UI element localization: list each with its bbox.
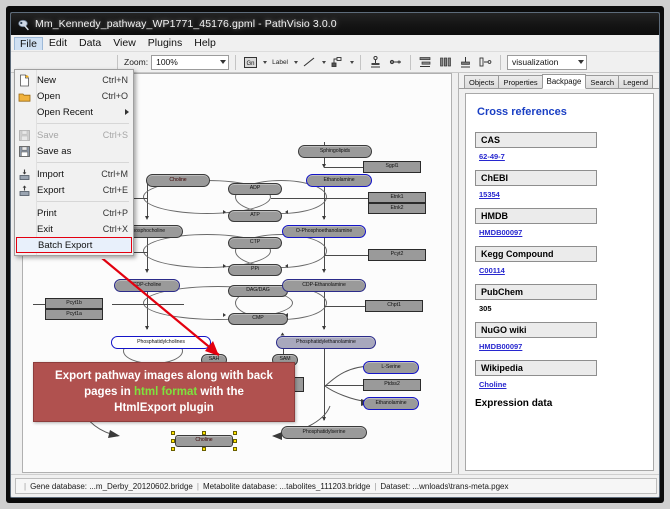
node-label: Sgpl1 [385,164,398,169]
pathway-node-sphingolipids[interactable]: Sphingolipids [298,145,372,158]
window-title: Mm_Kennedy_pathway_WP1771_45176.gpml - P… [35,18,337,30]
import-icon [18,168,31,181]
node-label: Ethanolamine [375,401,406,406]
file-menu-accel-save: Ctrl+S [103,130,133,140]
file-menu-accel-exit: Ctrl+X [103,224,133,234]
stack-icon[interactable] [437,54,454,70]
label-dropdown-icon[interactable] [294,61,298,64]
xref-link-cas[interactable]: 62-49-7 [479,152,505,161]
xref-cas: CAS 62-49-7 [475,132,644,161]
node-label: O-Phosphoethanolamine [296,229,352,234]
node-label: Phosphatidylcholines [137,340,185,345]
callout-line2-a: pages in [84,386,134,398]
file-menu-item-open-recent[interactable]: Open Recent [15,104,133,120]
file-menu-item-save-as[interactable]: Save as [15,143,133,159]
pathvisio-icon [17,18,30,31]
xref-value-chebi[interactable]: 15354 [475,186,644,199]
xref-link-wikipedia[interactable]: Choline [479,380,507,389]
arrowhead-icon [145,216,149,220]
node-label: CMP [252,316,263,321]
submenu-arrow-icon [125,109,129,115]
status-separator-0: | [24,482,26,491]
pathway-node-pcyt1b[interactable]: Pcyt1b [45,298,103,309]
tab-properties[interactable]: Properties [498,75,542,88]
menu-help[interactable]: Help [188,36,222,50]
title-bar: Mm_Kennedy_pathway_WP1771_45176.gpml - P… [11,13,659,35]
pathway-node-pcyt1a[interactable]: Pcyt1a [45,309,103,320]
status-separator-1: | [197,482,199,491]
xref-link-hmdb[interactable]: HMDB00097 [479,228,522,237]
visualization-combo[interactable]: visualization [507,55,587,70]
edge-pcyt1 [112,304,184,305]
arrowhead-icon [285,264,288,268]
toolbar-separator-3 [360,55,361,70]
callout-line-2: pages in html format with the [84,384,244,400]
interaction-dropdown-icon[interactable] [350,61,354,64]
xref-head-kegg: Kegg Compound [475,246,597,262]
chevron-down-icon [220,60,226,64]
pathway-node-ppi[interactable]: PPi [228,264,282,276]
file-menu-accel-open: Ctrl+O [102,91,133,101]
menu-data[interactable]: Data [73,36,107,50]
pathway-node-etnk2[interactable]: Etnk2 [368,203,426,214]
arrowhead-icon [223,313,226,317]
xref-value-wikipedia[interactable]: Choline [475,376,644,389]
status-bar-content: | Gene database: ...m_Derby_20120602.bri… [15,478,657,494]
pathway-node-choline-bottom[interactable]: Choline [175,435,233,447]
interaction-tool-button[interactable] [329,54,346,70]
node-label: DAG/DAG [246,288,270,293]
pathway-node-ctp[interactable]: CTP [228,237,282,249]
pathway-node-o-phosphoethanolamine[interactable]: O-Phosphoethanolamine [282,225,366,238]
node-label: Phosphatidylethanolamine [296,340,356,345]
xref-link-nugo[interactable]: HMDB00097 [479,342,522,351]
file-menu-label-batch-export: Batch Export [38,240,131,251]
arrowhead-icon [223,264,226,268]
status-separator-2: | [374,482,376,491]
align-top-icon[interactable] [367,54,384,70]
visualization-value: visualization [512,57,558,67]
datanode-dropdown-icon[interactable] [263,61,267,64]
distribute-icon[interactable] [417,54,434,70]
status-dataset: Dataset: ...wnloads\trans-meta.pgex [380,482,508,491]
xref-head-cas: CAS [475,132,597,148]
pathway-node-sgpl1[interactable]: Sgpl1 [363,161,421,173]
node-label: Phosphatidylserine [303,430,346,435]
node-label: Pcyt2 [391,252,404,257]
pathvisio-window: Mm_Kennedy_pathway_WP1771_45176.gpml - P… [10,12,660,498]
file-menu-separator-2 [37,162,129,163]
xref-kegg: Kegg Compound C00114 [475,246,644,275]
zoom-label: Zoom: [124,57,148,67]
zoom-combo[interactable]: 100% [151,55,229,70]
save-icon [18,129,31,142]
file-menu-label-open: Open [37,91,102,102]
svg-text:Gn: Gn [247,61,255,67]
pathway-node-chpt1[interactable]: Chpt1 [365,300,423,312]
status-metabolite-database: Metabolite database: ...tabolites_111203… [203,482,370,491]
file-menu-item-exit[interactable]: Exit Ctrl+X [15,221,133,237]
annotation-callout: Export pathway images along with back pa… [33,362,295,422]
pathway-node-etnk1[interactable]: Etnk1 [368,192,426,203]
pathway-node-cmp[interactable]: CMP [228,313,288,325]
status-gene-database: Gene database: ...m_Derby_20120602.bridg… [30,482,193,491]
toolbar-separator [117,55,118,70]
callout-line-1: Export pathway images along with back [55,368,273,384]
xref-chebi: ChEBI 15354 [475,170,644,199]
folder-icon [18,90,31,103]
arrowhead-icon [285,210,288,214]
node-label: Pcyt1a [66,312,82,317]
edge-etnk [271,198,379,199]
pathway-node-ethanolamine-2[interactable]: Ethanolamine [363,397,419,410]
arrowhead-icon [322,216,326,220]
tab-backpage[interactable]: Backpage [542,74,587,89]
xref-nugo: NuGO wiki HMDB00097 [475,322,644,351]
node-label: Ethanolamine [323,178,354,183]
file-menu-accel-export: Ctrl+E [103,185,133,195]
export-icon [18,184,31,197]
node-label: Etnk1 [390,195,403,200]
pathway-node-phosphatidylcholines[interactable]: Phosphatidylcholines [111,336,211,349]
pathway-node-phosphatidylethanolamine[interactable]: Phosphatidylethanolamine [276,336,376,349]
file-menu-separator-3 [37,201,129,202]
node-label: ADP [250,186,261,191]
pathway-node-ptdss2[interactable]: Ptdss2 [363,379,421,391]
file-menu-accel-import: Ctrl+M [101,169,133,179]
callout-line2-b: with the [197,386,244,398]
desktop-background: Mm_Kennedy_pathway_WP1771_45176.gpml - P… [0,0,670,509]
node-label: L-Serine [381,365,400,370]
xref-value-nugo[interactable]: HMDB00097 [475,338,644,351]
new-file-icon [18,74,31,87]
node-label: Chpt1 [387,303,401,308]
xref-link-kegg[interactable]: C00114 [479,266,505,275]
xref-pubchem: PubChem 305 [475,284,644,313]
pathway-node-cdp-choline[interactable]: CDP-choline [114,279,180,292]
pathway-node-cdp-ethanolamine[interactable]: CDP-Ethanolamine [282,279,366,292]
pathway-node-phosphatidylserine[interactable]: Phosphatidylserine [281,426,367,439]
file-menu-label-export: Export [37,185,103,196]
line-tool-button[interactable] [301,54,318,70]
file-menu-label-open-recent: Open Recent [37,107,125,118]
node-label: PPi [251,267,259,272]
menu-view[interactable]: View [107,36,142,50]
xref-head-nugo: NuGO wiki [475,322,597,338]
file-menu-label-new: New [37,75,102,86]
file-menu-label-save-as: Save as [37,146,128,157]
arrowhead-icon [223,210,226,214]
xref-value-pubchem: 305 [475,300,644,313]
arrowhead-icon [322,326,326,330]
xref-link-chebi[interactable]: 15354 [479,190,500,199]
toolbar-separator-2 [235,55,236,70]
file-menu-label-exit: Exit [37,224,103,235]
backpage-title: Cross references [477,106,644,118]
xref-head-pubchem: PubChem [475,284,597,300]
node-label: Etnk2 [390,206,403,211]
pathway-node-ethanolamine-1[interactable]: Ethanolamine [306,174,372,187]
node-label: Choline [169,178,186,183]
file-menu-item-import[interactable]: Import Ctrl+M [15,166,133,182]
ungroup-icon[interactable] [477,54,494,70]
datanode-tool-button[interactable]: Gn [242,54,259,70]
node-label: Pcyt1b [66,301,82,306]
node-label: ATP [250,213,260,218]
pathway-node-pcyt2[interactable]: Pcyt2 [368,249,426,261]
arrowhead-icon [145,326,149,330]
side-panel-tabs: Objects Properties Backpage Search Legen… [459,73,660,89]
file-menu-label-import: Import [37,169,101,180]
zoom-value: 100% [156,57,178,67]
chevron-down-icon-2 [578,60,584,64]
file-menu-label-save: Save [37,130,103,141]
pathway-node-adp[interactable]: ADP [228,183,282,195]
arrowhead-icon [145,269,149,273]
align-middle-icon[interactable] [387,54,404,70]
save-as-icon [18,145,31,158]
toolbar-separator-5 [500,55,501,70]
node-label: CDP-Ethanolamine [302,283,346,288]
callout-line-3: HtmlExport plugin [114,400,214,416]
pathway-node-l-serine[interactable]: L-Serine [363,361,419,374]
xref-value-hmdb[interactable]: HMDB00097 [475,224,644,237]
xref-hmdb: HMDB HMDB00097 [475,208,644,237]
status-bar: | Gene database: ...m_Derby_20120602.bri… [11,474,660,497]
file-menu-popup: New Ctrl+N Open Ctrl+O Open Recent [14,69,134,256]
file-menu-separator-1 [37,123,129,124]
line-dropdown-icon[interactable] [322,61,326,64]
group-icon[interactable] [457,54,474,70]
file-menu-item-open[interactable]: Open Ctrl+O [15,88,133,104]
file-menu-item-export[interactable]: Export Ctrl+E [15,182,133,198]
menu-file[interactable]: File [14,37,43,50]
tab-objects[interactable]: Objects [464,75,499,88]
pathway-node-choline-top[interactable]: Choline [146,174,210,187]
node-label: CTP [250,240,260,245]
file-menu-label-print: Print [37,208,103,219]
xref-value-kegg[interactable]: C00114 [475,262,644,275]
file-menu-item-new[interactable]: New Ctrl+N [15,72,133,88]
tab-legend[interactable]: Legend [618,75,653,88]
file-menu-item-print[interactable]: Print Ctrl+P [15,205,133,221]
menu-edit[interactable]: Edit [43,36,73,50]
menu-bar: File Edit Data View Plugins Help [11,35,659,52]
node-label: CDP-choline [133,283,162,288]
xref-wikipedia: Wikipedia Choline [475,360,644,389]
label-tool-button[interactable]: Label [270,54,290,70]
side-panel: Objects Properties Backpage Search Legen… [459,73,660,476]
tab-search[interactable]: Search [585,75,619,88]
expression-data-title: Expression data [475,398,644,409]
file-menu-item-save[interactable]: Save Ctrl+S [15,127,133,143]
callout-highlight: html format [134,386,197,398]
file-menu-accel-print: Ctrl+P [103,208,133,218]
backpage-content: Cross references CAS 62-49-7 ChEBI 15354… [465,93,654,471]
menu-plugins[interactable]: Plugins [142,36,188,50]
node-label: Sphingolipids [320,149,350,154]
pathway-node-atp[interactable]: ATP [228,210,282,222]
file-menu-item-batch-export[interactable]: Batch Export [16,237,132,253]
node-label: Ptdss2 [384,382,400,387]
xref-head-wikipedia: Wikipedia [475,360,597,376]
node-label: Choline [195,438,212,443]
xref-head-hmdb: HMDB [475,208,597,224]
pathway-node-dag[interactable]: DAG/DAG [228,285,288,297]
arrowhead-icon [322,269,326,273]
node-label: Phosphocholine [129,229,165,234]
file-menu-accel-new: Ctrl+N [102,75,133,85]
xref-value-cas[interactable]: 62-49-7 [475,148,644,161]
toolbar-separator-4 [410,55,411,70]
xref-head-chebi: ChEBI [475,170,597,186]
